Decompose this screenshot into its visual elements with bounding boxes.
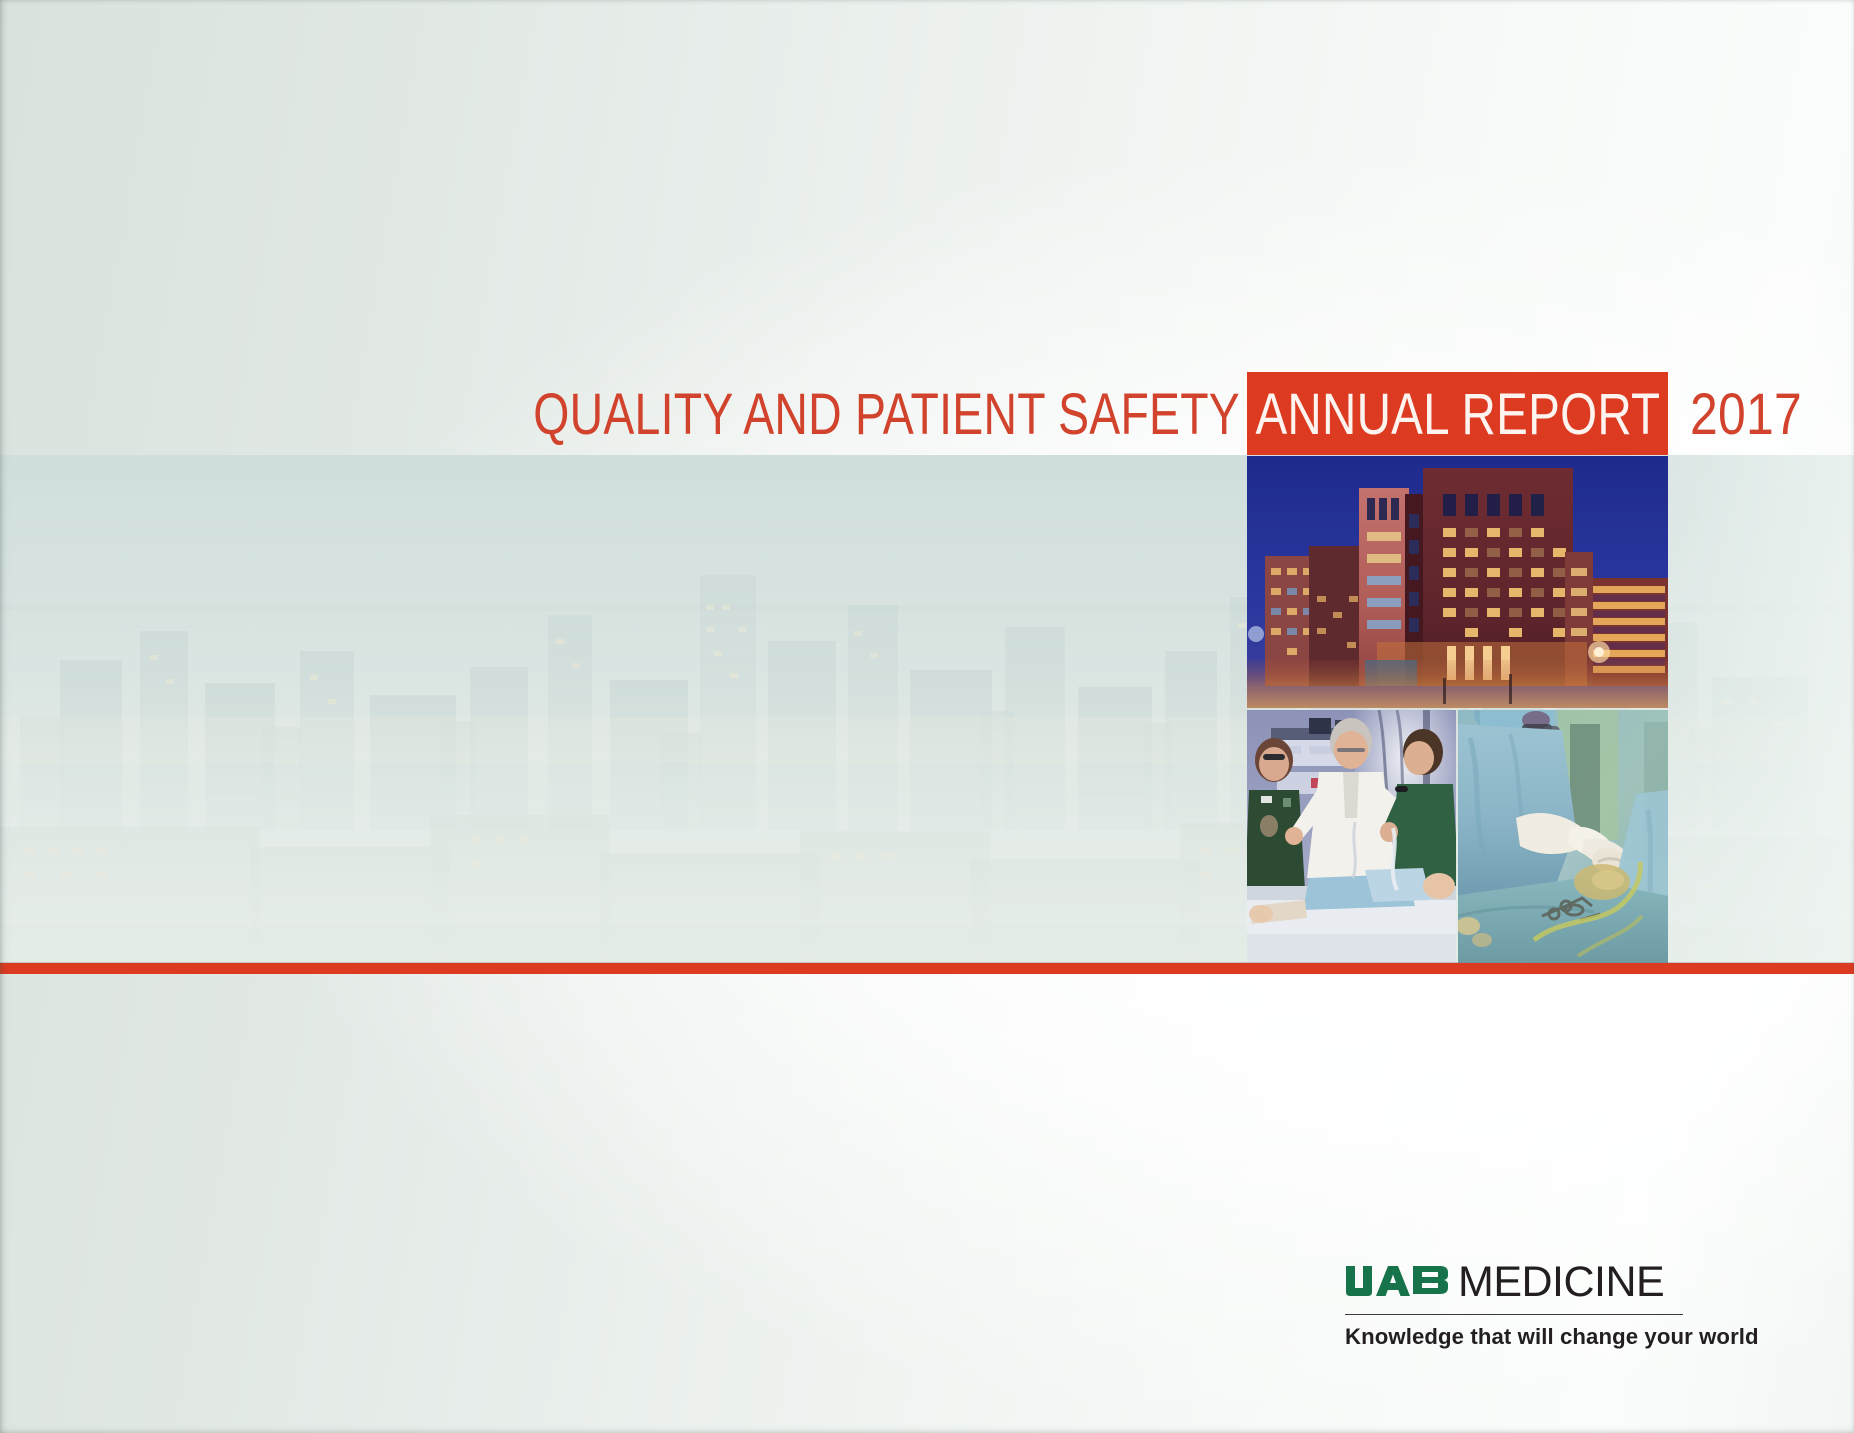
logo-wordmark-row: MEDICINE: [1345, 1258, 1685, 1306]
photo-operating-room: [1458, 710, 1668, 963]
photo-hospital-exterior: [1247, 456, 1668, 708]
logo-tagline: Knowledge that will change your world: [1345, 1324, 1680, 1350]
cover-photo-collage: [1247, 456, 1668, 963]
report-year: 2017: [1690, 372, 1802, 456]
uab-medicine-logo: MEDICINE Knowledge that will change your…: [1345, 1258, 1685, 1358]
uab-logo-icon: [1345, 1264, 1449, 1300]
cover-title-strip: QUALITY AND PATIENT SAFETY ANNUAL REPORT…: [0, 372, 1854, 456]
photo-clinical-simulation: [1247, 710, 1456, 963]
logo-underline: [1345, 1314, 1683, 1315]
annual-report-badge: ANNUAL REPORT: [1247, 372, 1668, 456]
logo-medicine-word: MEDICINE: [1458, 1261, 1664, 1304]
annual-report-label: ANNUAL REPORT: [1255, 381, 1660, 448]
brand-divider-rule: [0, 963, 1854, 974]
report-cover-page: QUALITY AND PATIENT SAFETY ANNUAL REPORT…: [0, 0, 1854, 1433]
page-title: QUALITY AND PATIENT SAFETY: [616, 372, 1240, 456]
